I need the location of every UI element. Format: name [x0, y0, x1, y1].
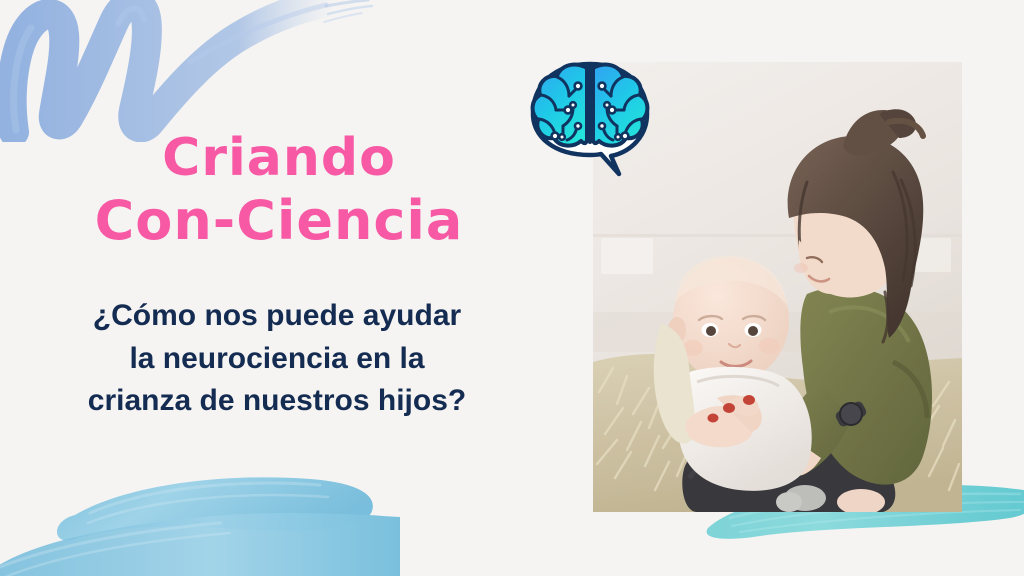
blue-brush-stroke-top-left-icon: [0, 0, 390, 142]
headline-text-block: Criando Con-Ciencia ¿Cómo nos puede ayud…: [0, 128, 540, 423]
subtitle-line-1: ¿Cómo nos puede ayudar: [14, 295, 540, 338]
title-line-1: Criando: [18, 128, 540, 189]
blue-brush-stroke-bottom-left-icon: [0, 455, 400, 576]
subtitle-line-3: crianza de nuestros hijos?: [14, 380, 540, 423]
title-line-2: Con-Ciencia: [18, 189, 540, 253]
page-subtitle: ¿Cómo nos puede ayudar la neurociencia e…: [0, 295, 540, 423]
page-title: Criando Con-Ciencia: [0, 128, 540, 253]
slide-canvas: Criando Con-Ciencia ¿Cómo nos puede ayud…: [0, 0, 1024, 576]
subtitle-line-2: la neurociencia en la: [14, 338, 540, 381]
